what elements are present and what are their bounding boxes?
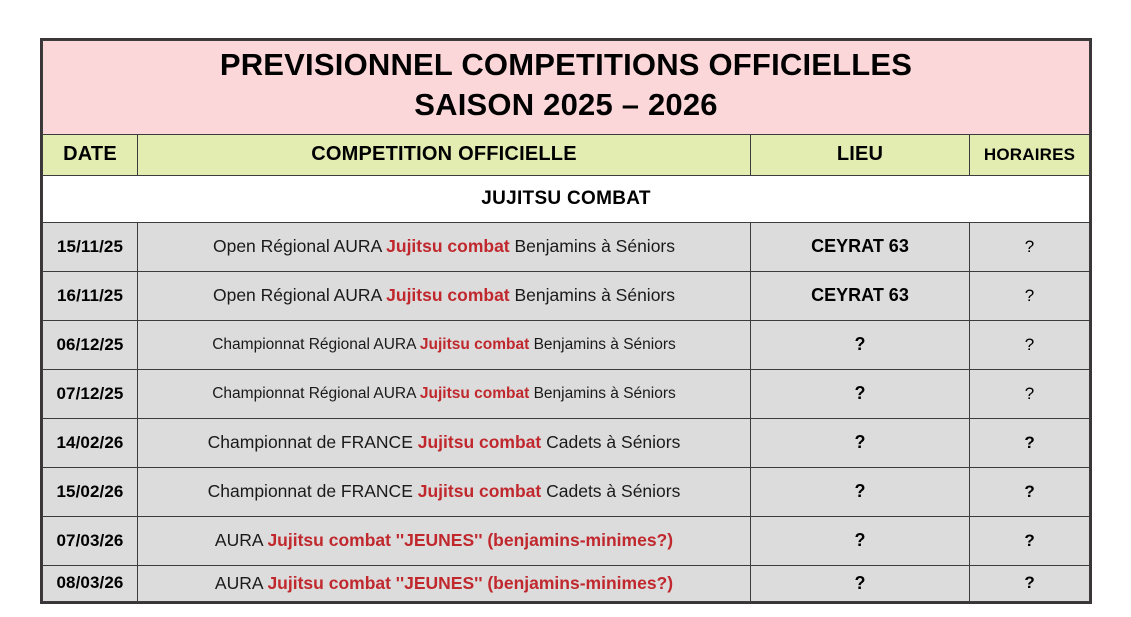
section-header-row: JUJITSU COMBAT xyxy=(43,175,1090,222)
cell-date: 16/11/25 xyxy=(43,271,138,320)
competition-suffix: Cadets à Séniors xyxy=(541,432,680,452)
cell-horaires: ? xyxy=(970,418,1090,467)
competition-prefix: Open Régional AURA xyxy=(213,236,386,256)
table-row: 06/12/25 Championnat Régional AURA Jujit… xyxy=(43,320,1090,369)
page-canvas: PREVISIONNEL COMPETITIONS OFFICIELLES SA… xyxy=(0,0,1131,617)
competition-prefix: Championnat de FRANCE xyxy=(208,481,418,501)
competition-prefix: AURA xyxy=(215,573,268,593)
competition-highlight: Jujitsu combat xyxy=(418,432,542,452)
cell-date: 15/02/26 xyxy=(43,467,138,516)
cell-competition: AURA Jujitsu combat ''JEUNES'' (benjamin… xyxy=(138,565,751,601)
cell-competition: Open Régional AURA Jujitsu combat Benjam… xyxy=(138,222,751,271)
title-line-1: PREVISIONNEL COMPETITIONS OFFICIELLES xyxy=(49,45,1083,85)
cell-horaires: ? xyxy=(970,320,1090,369)
competition-prefix: AURA xyxy=(215,530,268,550)
column-header-row: DATE COMPETITION OFFICIELLE LIEU HORAIRE… xyxy=(43,134,1090,175)
column-header-competition: COMPETITION OFFICIELLE xyxy=(138,134,751,175)
cell-lieu: ? xyxy=(751,369,970,418)
competition-prefix: Championnat de FRANCE xyxy=(208,432,418,452)
competition-prefix: Open Régional AURA xyxy=(213,285,386,305)
cell-date: 15/11/25 xyxy=(43,222,138,271)
table-row: 15/11/25 Open Régional AURA Jujitsu comb… xyxy=(43,222,1090,271)
table-row: 14/02/26 Championnat de FRANCE Jujitsu c… xyxy=(43,418,1090,467)
competition-highlight: Jujitsu combat xyxy=(418,481,542,501)
cell-date: 14/02/26 xyxy=(43,418,138,467)
cell-lieu: CEYRAT 63 xyxy=(751,271,970,320)
competition-highlight: Jujitsu combat xyxy=(420,336,529,353)
column-header-date: DATE xyxy=(43,134,138,175)
competition-suffix: Benjamins à Séniors xyxy=(529,385,675,402)
competition-highlight: Jujitsu combat ''JEUNES'' (benjamins-min… xyxy=(267,530,673,550)
competition-suffix: Benjamins à Séniors xyxy=(510,236,675,256)
table-row: 16/11/25 Open Régional AURA Jujitsu comb… xyxy=(43,271,1090,320)
document-title-cell: PREVISIONNEL COMPETITIONS OFFICIELLES SA… xyxy=(43,41,1090,135)
cell-competition: AURA Jujitsu combat ''JEUNES'' (benjamin… xyxy=(138,516,751,565)
cell-date: 07/12/25 xyxy=(43,369,138,418)
competition-suffix: Benjamins à Séniors xyxy=(510,285,675,305)
competition-schedule-table: PREVISIONNEL COMPETITIONS OFFICIELLES SA… xyxy=(42,40,1090,602)
table-row: 08/03/26 AURA Jujitsu combat ''JEUNES'' … xyxy=(43,565,1090,601)
competition-prefix: Championnat Régional AURA xyxy=(212,385,420,402)
cell-lieu: ? xyxy=(751,320,970,369)
cell-date: 07/03/26 xyxy=(43,516,138,565)
cell-horaires: ? xyxy=(970,369,1090,418)
table-row: 07/12/25 Championnat Régional AURA Jujit… xyxy=(43,369,1090,418)
cell-competition: Championnat de FRANCE Jujitsu combat Cad… xyxy=(138,467,751,516)
cell-lieu: ? xyxy=(751,467,970,516)
cell-lieu: CEYRAT 63 xyxy=(751,222,970,271)
section-header-jujitsu-combat: JUJITSU COMBAT xyxy=(43,175,1090,222)
cell-date: 06/12/25 xyxy=(43,320,138,369)
column-header-lieu: LIEU xyxy=(751,134,970,175)
cell-competition: Championnat de FRANCE Jujitsu combat Cad… xyxy=(138,418,751,467)
cell-horaires: ? xyxy=(970,565,1090,601)
title-line-2: SAISON 2025 – 2026 xyxy=(49,85,1083,125)
table-title-row: PREVISIONNEL COMPETITIONS OFFICIELLES SA… xyxy=(43,41,1090,135)
column-header-horaires: HORAIRES xyxy=(970,134,1090,175)
cell-date: 08/03/26 xyxy=(43,565,138,601)
competition-suffix: Benjamins à Séniors xyxy=(529,336,675,353)
competition-prefix: Championnat Régional AURA xyxy=(212,336,420,353)
cell-competition: Championnat Régional AURA Jujitsu combat… xyxy=(138,369,751,418)
cell-horaires: ? xyxy=(970,516,1090,565)
cell-competition: Open Régional AURA Jujitsu combat Benjam… xyxy=(138,271,751,320)
table-row: 15/02/26 Championnat de FRANCE Jujitsu c… xyxy=(43,467,1090,516)
cell-horaires: ? xyxy=(970,222,1090,271)
competition-highlight: Jujitsu combat xyxy=(386,236,510,256)
competition-suffix: Cadets à Séniors xyxy=(541,481,680,501)
cell-lieu: ? xyxy=(751,516,970,565)
cell-lieu: ? xyxy=(751,418,970,467)
cell-horaires: ? xyxy=(970,467,1090,516)
cell-lieu: ? xyxy=(751,565,970,601)
cell-horaires: ? xyxy=(970,271,1090,320)
competition-highlight: Jujitsu combat xyxy=(386,285,510,305)
competition-highlight: Jujitsu combat ''JEUNES'' (benjamins-min… xyxy=(267,573,673,593)
table-row: 07/03/26 AURA Jujitsu combat ''JEUNES'' … xyxy=(43,516,1090,565)
cell-competition: Championnat Régional AURA Jujitsu combat… xyxy=(138,320,751,369)
competition-highlight: Jujitsu combat xyxy=(420,385,529,402)
